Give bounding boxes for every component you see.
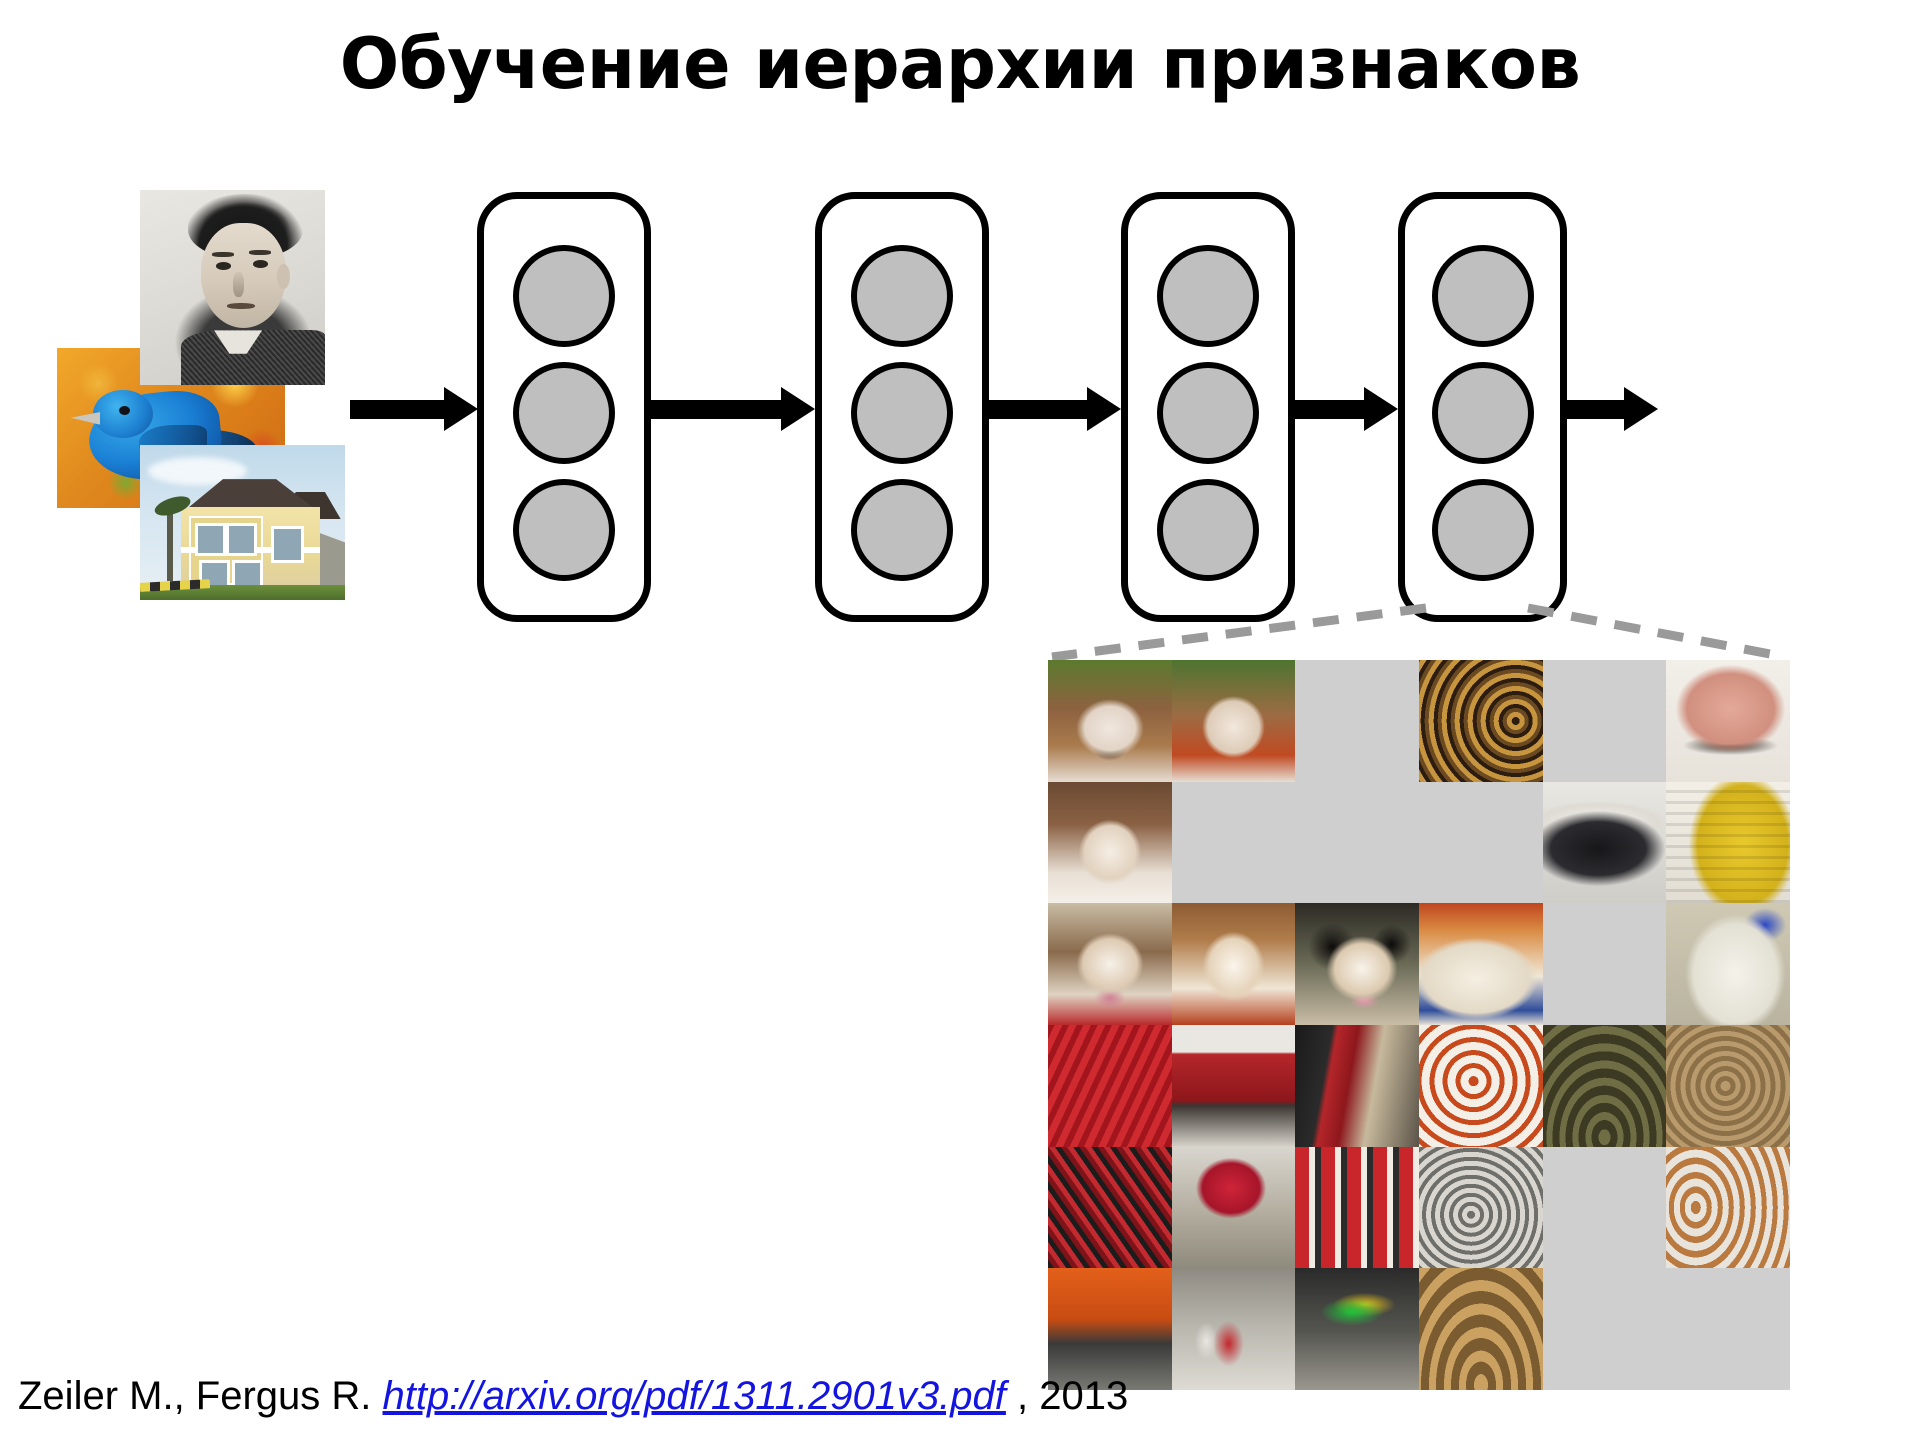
- patch-dog-papillon: [1295, 782, 1419, 904]
- arrow-head: [1364, 387, 1398, 431]
- layer-1-node-1: [513, 245, 615, 347]
- house-window-3: [271, 526, 304, 563]
- arrow-shaft: [637, 400, 783, 419]
- layer-4-node-2: [1432, 362, 1534, 464]
- page-title: Обучение иерархии признаков: [0, 28, 1920, 102]
- arrow-head: [444, 387, 478, 431]
- patch-dark-vortex: [1543, 1147, 1667, 1269]
- arrow-head: [1624, 387, 1658, 431]
- network-layer-4[interactable]: [1398, 192, 1567, 622]
- feature-patch-grid[interactable]: [1048, 660, 1790, 1390]
- patch-pink-bowl: [1666, 660, 1790, 782]
- patch-dog-pointer: [1048, 903, 1172, 1025]
- portrait-face: [201, 223, 286, 328]
- portrait-mouth: [227, 303, 255, 309]
- house-window-2: [226, 523, 257, 557]
- layer-2-node-3: [851, 479, 953, 581]
- layer-3-node-2: [1157, 362, 1259, 464]
- patch-red-fabric: [1048, 1147, 1172, 1269]
- portrait-brow-left: [212, 252, 234, 257]
- layer-2-node-1: [851, 245, 953, 347]
- patch-dog-stbernard: [1172, 903, 1296, 1025]
- layer-4-node-1: [1432, 245, 1534, 347]
- patch-orange-truck: [1048, 1268, 1172, 1390]
- patch-camera-lens-purple: [1543, 1268, 1667, 1390]
- patch-dog-spaniel-1: [1048, 660, 1172, 782]
- layer-1-node-3: [513, 479, 615, 581]
- patch-metal-duct: [1666, 1147, 1790, 1269]
- network-layer-1[interactable]: [477, 192, 651, 622]
- patch-orange-spiral: [1419, 1025, 1543, 1147]
- patch-dog-chihuahua: [1295, 660, 1419, 782]
- patch-arch-tunnel: [1543, 1025, 1667, 1147]
- layer-3-node-1: [1157, 245, 1259, 347]
- patch-dog-springer: [1048, 782, 1172, 904]
- portrait-eye-right: [253, 260, 268, 268]
- patch-dog-spaniel-2: [1172, 660, 1296, 782]
- patch-concentric-wood: [1666, 1025, 1790, 1147]
- patch-heater-coil: [1419, 1147, 1543, 1269]
- arrow-head: [781, 387, 815, 431]
- footer-link[interactable]: http://arxiv.org/pdf/1311.2901v3.pdf: [383, 1374, 1006, 1418]
- footer-year: , 2013: [1006, 1374, 1128, 1418]
- layer-2-node-2: [851, 362, 953, 464]
- patch-red-coil: [1543, 660, 1667, 782]
- patch-guitar-rosette: [1419, 660, 1543, 782]
- patch-red-flower: [1172, 1147, 1296, 1269]
- patch-tin-can: [1666, 903, 1790, 1025]
- patch-street-crowd: [1172, 1268, 1296, 1390]
- patch-cathedral-vault: [1419, 1268, 1543, 1390]
- patch-black-rim: [1543, 782, 1667, 904]
- network-layer-3[interactable]: [1121, 192, 1295, 622]
- patch-dog-pekingese: [1295, 903, 1419, 1025]
- house-palm-trunk: [167, 504, 173, 582]
- patch-red-coats: [1172, 1025, 1296, 1147]
- patch-porcelain-label: [1543, 903, 1667, 1025]
- input-image-yellow-house: [140, 445, 345, 600]
- patch-stopwatch-dial: [1419, 782, 1543, 904]
- arrow-shaft: [350, 400, 446, 419]
- patch-dog-husky: [1172, 782, 1296, 904]
- dashed-callout-line-right: [1528, 608, 1786, 657]
- patch-dslr-camera: [1666, 1268, 1790, 1390]
- patch-red-luggage: [1295, 1147, 1419, 1269]
- patch-paint-can: [1419, 903, 1543, 1025]
- input-image-portrait-grayscale: [140, 190, 325, 385]
- bird-eye: [119, 406, 130, 416]
- footer-citation: Zeiler M., Fergus R. http://arxiv.org/pd…: [18, 1374, 1128, 1419]
- portrait-eye-left: [216, 262, 231, 270]
- footer-authors: Zeiler M., Fergus R.: [18, 1374, 383, 1418]
- layer-1-node-2: [513, 362, 615, 464]
- patch-green-ribbon: [1295, 1268, 1419, 1390]
- network-layer-2[interactable]: [815, 192, 989, 622]
- portrait-brow-right: [249, 250, 271, 255]
- layer-3-node-3: [1157, 479, 1259, 581]
- patch-red-dress: [1048, 1025, 1172, 1147]
- portrait-nose: [233, 272, 244, 297]
- arrow-head: [1087, 387, 1121, 431]
- house-window-1: [195, 523, 226, 557]
- portrait-ear: [277, 264, 290, 289]
- patch-yellow-can-text: [1666, 782, 1790, 904]
- patch-red-legs: [1295, 1025, 1419, 1147]
- layer-4-node-3: [1432, 479, 1534, 581]
